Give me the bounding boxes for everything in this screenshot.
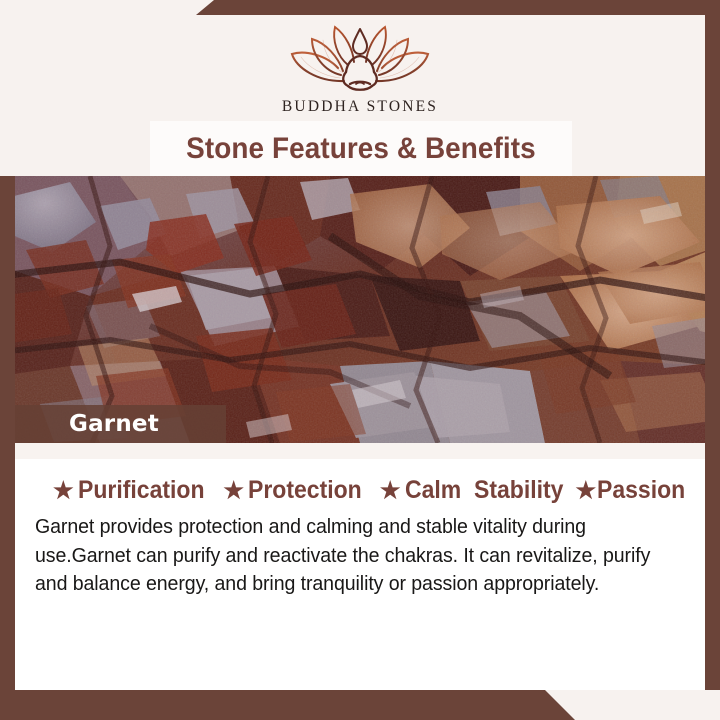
brand-logo: BUDDHA STONES xyxy=(0,22,720,116)
content-panel: ★ Purification ★ Protection ★ Calm Stabi… xyxy=(15,459,705,692)
benefit-item-purification: ★ Purification xyxy=(53,476,215,505)
benefit-item-protection: ★ Protection xyxy=(223,476,371,505)
stone-name: Garnet xyxy=(69,411,159,437)
benefit-label: Stability xyxy=(474,476,563,505)
benefit-label: Calm xyxy=(405,476,461,505)
star-icon: ★ xyxy=(576,479,597,502)
top-accent-bar xyxy=(196,0,720,15)
stone-description: Garnet provides protection and calming a… xyxy=(35,513,665,599)
garnet-texture xyxy=(0,176,720,443)
brand-name: BUDDHA STONES xyxy=(282,98,438,116)
infographic-card: BUDDHA STONES Stone Features & Benefits xyxy=(0,0,720,720)
benefit-label: Protection xyxy=(248,476,362,505)
header-section: BUDDHA STONES Stone Features & Benefits xyxy=(0,0,720,176)
panel-top-strip xyxy=(15,443,705,459)
benefit-label: Purification xyxy=(78,476,205,505)
benefit-item-calm: ★ Calm xyxy=(380,476,466,505)
benefit-item-passion: ★ Passion xyxy=(576,476,694,505)
star-icon: ★ xyxy=(53,479,74,502)
lotus-meditation-icon xyxy=(285,22,435,94)
benefits-list: ★ Purification ★ Protection ★ Calm Stabi… xyxy=(53,476,693,505)
garnet-photo xyxy=(0,176,720,443)
star-icon: ★ xyxy=(223,479,244,502)
left-accent-edge xyxy=(0,176,15,720)
star-icon: ★ xyxy=(380,479,401,502)
right-accent-edge xyxy=(705,0,720,692)
benefit-label: Passion xyxy=(597,476,685,505)
page-title-box: Stone Features & Benefits xyxy=(150,121,572,176)
benefit-item-stability: Stability xyxy=(474,476,571,505)
stone-name-badge: Garnet xyxy=(0,405,226,443)
page-title: Stone Features & Benefits xyxy=(186,132,536,166)
